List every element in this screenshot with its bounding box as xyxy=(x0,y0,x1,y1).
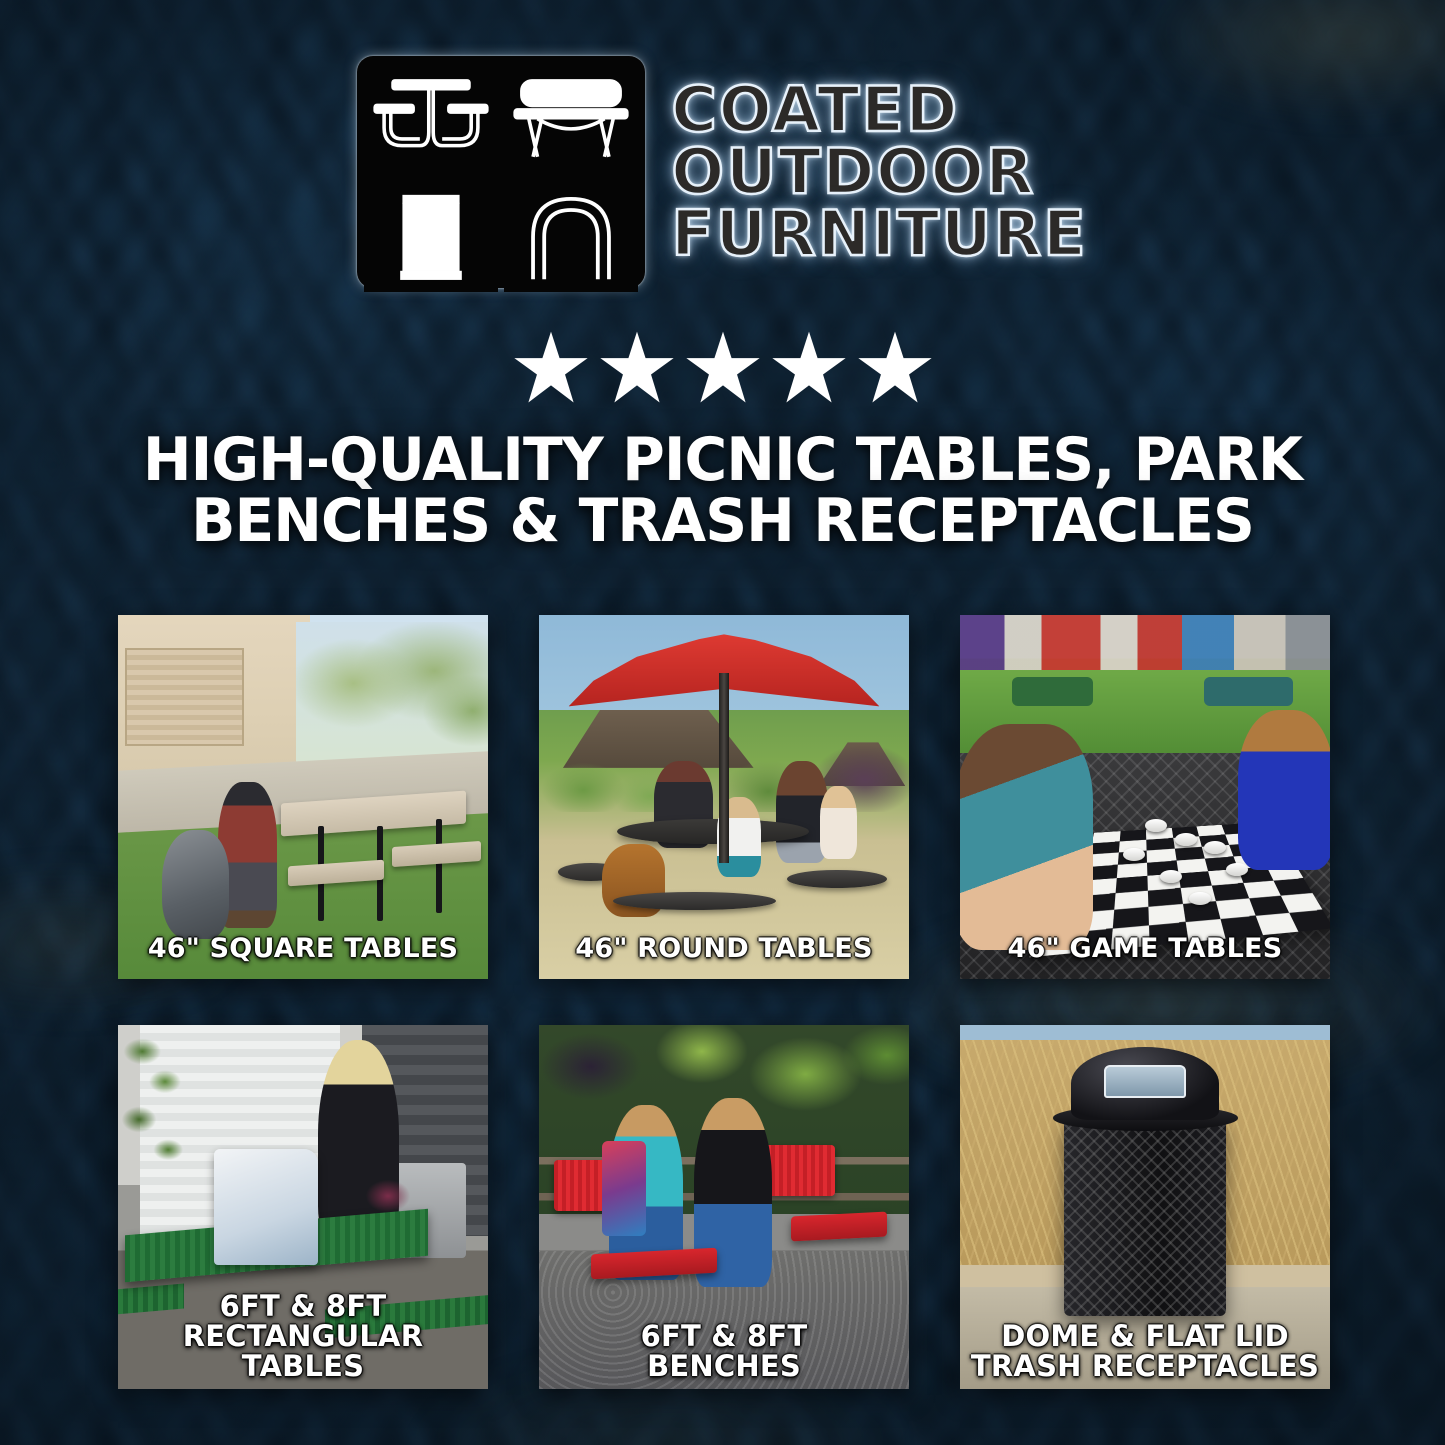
brand-name: COATED OUTDOOR FURNITURE xyxy=(671,80,1087,264)
product-grid: 46" SQUARE TABLES 46" ROUND TABLES xyxy=(118,615,1330,1389)
picnic-table-icon xyxy=(364,63,498,175)
product-caption: DOME & FLAT LID TRASH RECEPTACLES xyxy=(966,1321,1324,1381)
headline-line-1: HIGH-QUALITY PICNIC TABLES, PARK xyxy=(80,430,1365,491)
brand-name-line-3: FURNITURE xyxy=(671,204,1087,264)
product-photo-game-tables xyxy=(960,615,1330,979)
product-caption: 46" SQUARE TABLES xyxy=(124,935,482,963)
company-logo-mark xyxy=(357,56,645,288)
product-tile-benches[interactable]: 6FT & 8FT BENCHES xyxy=(539,1025,909,1389)
brand-name-line-1: COATED xyxy=(671,80,1087,140)
product-photo-round-tables xyxy=(539,615,909,979)
product-caption: 6FT & 8FT RECTANGULAR TABLES xyxy=(124,1291,482,1381)
bike-rack-arch-icon xyxy=(504,181,638,293)
product-caption: 46" ROUND TABLES xyxy=(545,935,903,963)
park-bench-icon xyxy=(504,63,638,175)
trash-receptacle-icon xyxy=(364,181,498,293)
product-tile-rectangular-tables[interactable]: 6FT & 8FT RECTANGULAR TABLES xyxy=(118,1025,488,1389)
product-tile-square-tables[interactable]: 46" SQUARE TABLES xyxy=(118,615,488,979)
headline-line-2: BENCHES & TRASH RECEPTACLES xyxy=(80,491,1365,552)
product-tile-game-tables[interactable]: 46" GAME TABLES xyxy=(960,615,1330,979)
star-icon xyxy=(770,330,848,406)
brand-name-line-2: OUTDOOR xyxy=(671,142,1087,202)
promotional-poster: COATED OUTDOOR FURNITURE HIGH-QUALITY PI… xyxy=(0,0,1445,1445)
star-rating xyxy=(0,330,1445,406)
star-icon xyxy=(512,330,590,406)
product-caption: 46" GAME TABLES xyxy=(966,935,1324,963)
brand-header: COATED OUTDOOR FURNITURE xyxy=(0,56,1445,288)
product-photo-square-tables xyxy=(118,615,488,979)
product-tile-trash-receptacles[interactable]: DOME & FLAT LID TRASH RECEPTACLES xyxy=(960,1025,1330,1389)
star-icon xyxy=(598,330,676,406)
product-tile-round-tables[interactable]: 46" ROUND TABLES xyxy=(539,615,909,979)
product-caption: 6FT & 8FT BENCHES xyxy=(545,1321,903,1381)
star-icon xyxy=(684,330,762,406)
star-icon xyxy=(856,330,934,406)
headline: HIGH-QUALITY PICNIC TABLES, PARK BENCHES… xyxy=(80,430,1365,552)
